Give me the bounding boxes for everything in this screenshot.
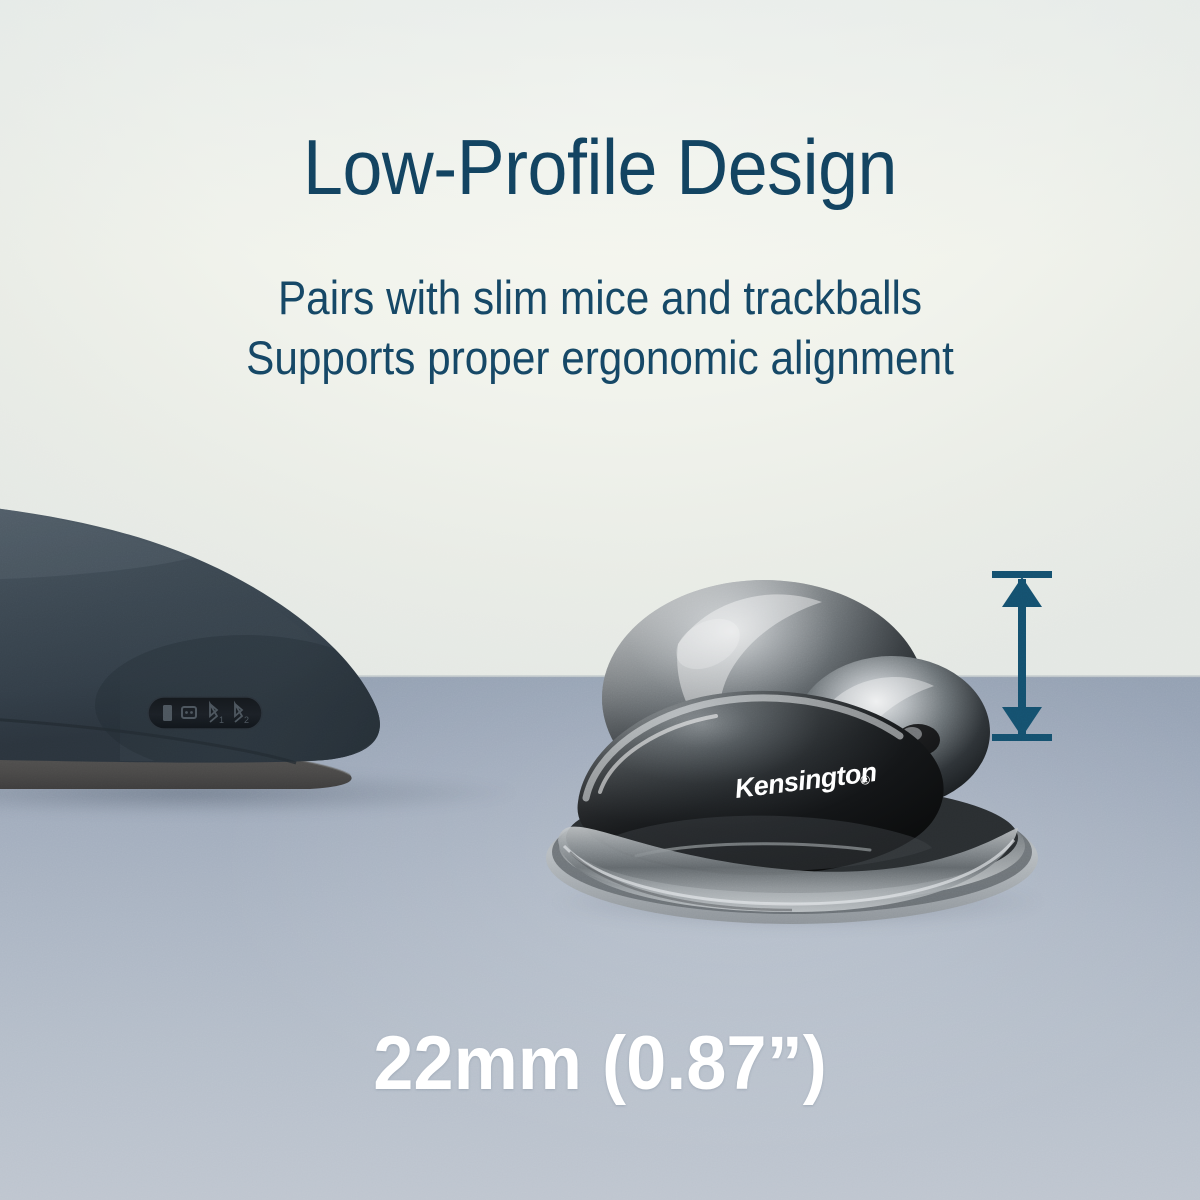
- usb-icon-dot-left: [185, 711, 188, 714]
- page-title: Low-Profile Design: [48, 128, 1152, 206]
- battery-icon: [163, 705, 172, 721]
- subtitle-line-1: Pairs with slim mice and trackballs: [60, 274, 1140, 321]
- bluetooth-2-label: 2: [244, 715, 249, 725]
- dimension-arrowhead-up: [1002, 577, 1042, 607]
- usb-icon-dot-right: [190, 711, 193, 714]
- wrist-rest-illustration: Kensington ®: [540, 540, 1040, 940]
- trackball-mouse-illustration: 1 2: [0, 455, 530, 815]
- dimension-arrow-svg: [978, 565, 1066, 750]
- bluetooth-1-label: 1: [219, 715, 224, 725]
- height-dimension-indicator: [978, 565, 1066, 750]
- gel-wrist-rest: Kensington ®: [540, 540, 1040, 940]
- dimension-arrowhead-down: [1002, 707, 1042, 737]
- subtitle-line-2: Supports proper ergonomic alignment: [60, 334, 1140, 381]
- trackball-mouse: 1 2: [0, 455, 530, 815]
- dimension-top-cap: [992, 571, 1052, 578]
- product-feature-image: Low-Profile Design Pairs with slim mice …: [0, 0, 1200, 1200]
- measurement-label: 22mm (0.87”): [30, 1026, 1170, 1102]
